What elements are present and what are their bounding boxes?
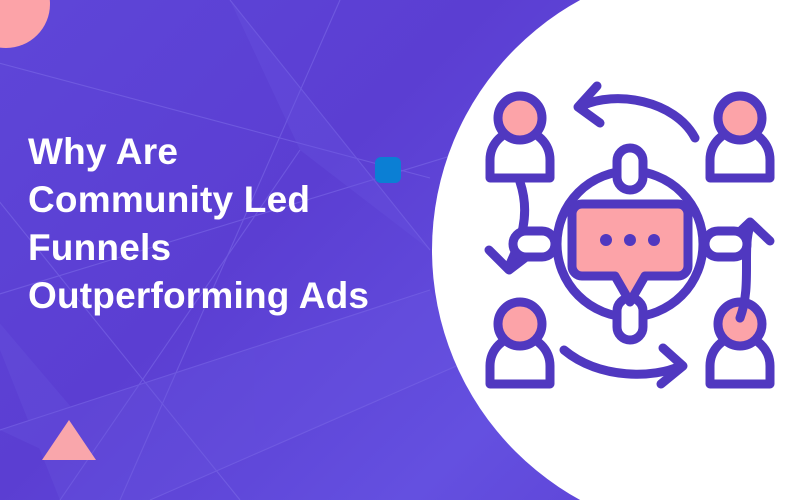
target-node-top bbox=[617, 148, 643, 190]
headline-line-2: Community Led bbox=[28, 176, 423, 224]
headline-line-3: Funnels bbox=[28, 224, 423, 272]
pink-triangle-decoration bbox=[42, 420, 96, 460]
blog-hero-banner: Why Are Community Led Funnels Outperform… bbox=[0, 0, 795, 500]
arrow-top-left bbox=[578, 86, 695, 138]
person-icon-bottom-left bbox=[490, 302, 550, 384]
person-icon-top-right bbox=[710, 96, 770, 178]
headline-line-1: Why Are bbox=[28, 128, 423, 176]
person-icon-top-left bbox=[490, 96, 550, 178]
target-node-left bbox=[513, 231, 555, 257]
pink-circle-decoration bbox=[0, 0, 50, 48]
chat-bubble-dots bbox=[600, 234, 660, 246]
headline-line-4: Outperforming Ads bbox=[28, 272, 423, 320]
community-network-illustration bbox=[470, 78, 790, 408]
page-title: Why Are Community Led Funnels Outperform… bbox=[28, 128, 423, 320]
arrow-bottom-right bbox=[564, 348, 683, 384]
target-node-right bbox=[705, 231, 747, 257]
